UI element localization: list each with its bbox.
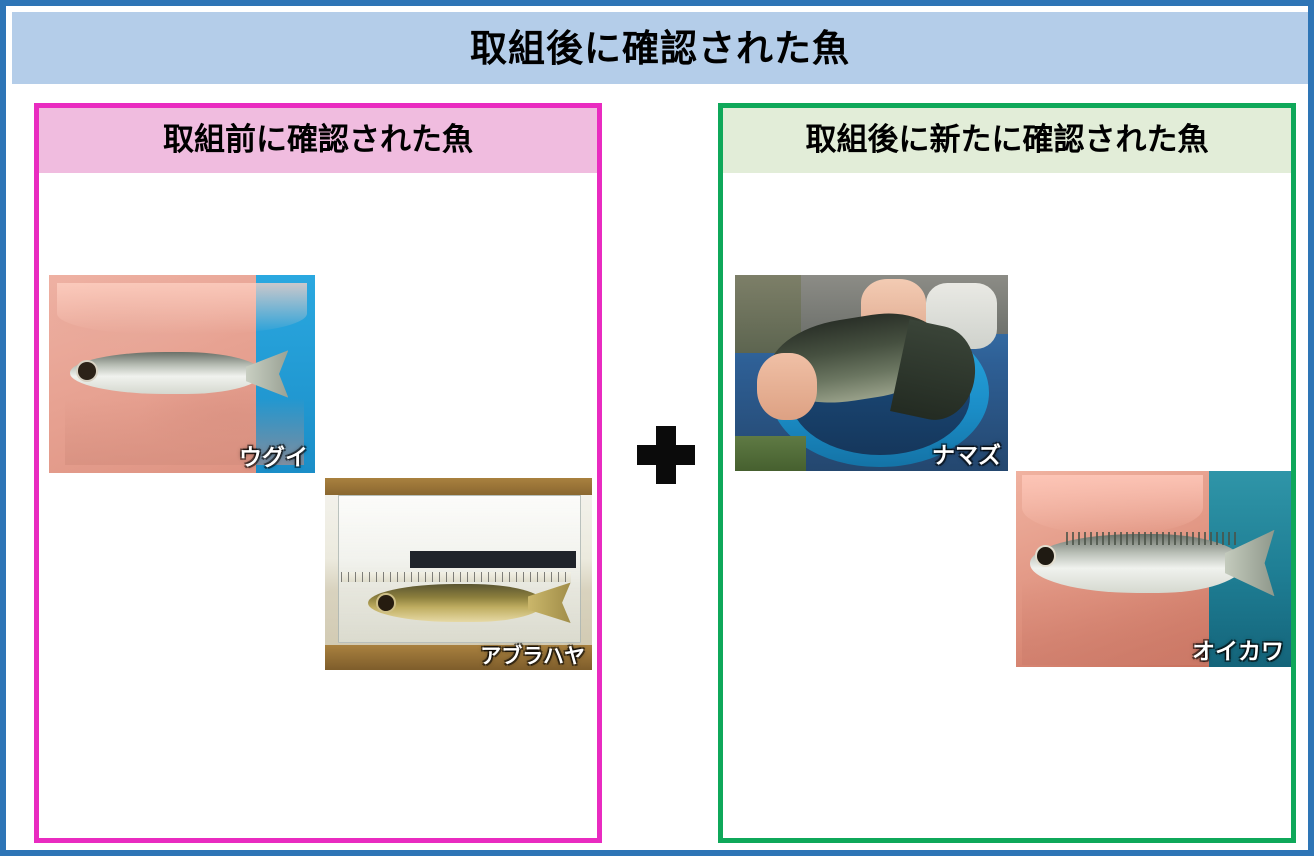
- photo-aburahaya-art: [325, 478, 592, 670]
- photo-ugui[interactable]: ウグイ: [49, 275, 315, 473]
- photo-caption: ウグイ: [239, 447, 308, 470]
- panel-before-body: ウグイ アブラハヤ: [39, 173, 597, 775]
- page-title: 取組後に確認された魚: [470, 30, 850, 67]
- slide-root: 取組後に確認された魚 取組前に確認された魚 ウグイ: [0, 0, 1314, 856]
- photo-oikawa[interactable]: オイカワ: [1016, 471, 1291, 667]
- photo-namazu[interactable]: ナマズ: [735, 275, 1008, 471]
- photo-ugui-art: [49, 275, 315, 473]
- panel-after-title: 取組後に新たに確認された魚: [806, 125, 1209, 156]
- photo-aburahaya[interactable]: アブラハヤ: [325, 478, 592, 670]
- panel-after-header: 取組後に新たに確認された魚: [723, 108, 1291, 173]
- panel-before-header: 取組前に確認された魚: [39, 108, 597, 173]
- panel-before: 取組前に確認された魚 ウグイ: [34, 103, 602, 843]
- photo-caption: オイカワ: [1192, 641, 1284, 664]
- panel-after-body: ナマズ オイカワ: [723, 173, 1291, 856]
- panel-before-title: 取組前に確認された魚: [163, 125, 473, 156]
- photo-caption: ナマズ: [932, 445, 1001, 468]
- plus-icon: [637, 426, 695, 484]
- photo-caption: アブラハヤ: [480, 646, 585, 667]
- photo-namazu-art: [735, 275, 1008, 471]
- slide-title-banner: 取組後に確認された魚: [12, 12, 1308, 84]
- photo-oikawa-art: [1016, 471, 1291, 667]
- panel-after: 取組後に新たに確認された魚 ナマズ: [718, 103, 1296, 843]
